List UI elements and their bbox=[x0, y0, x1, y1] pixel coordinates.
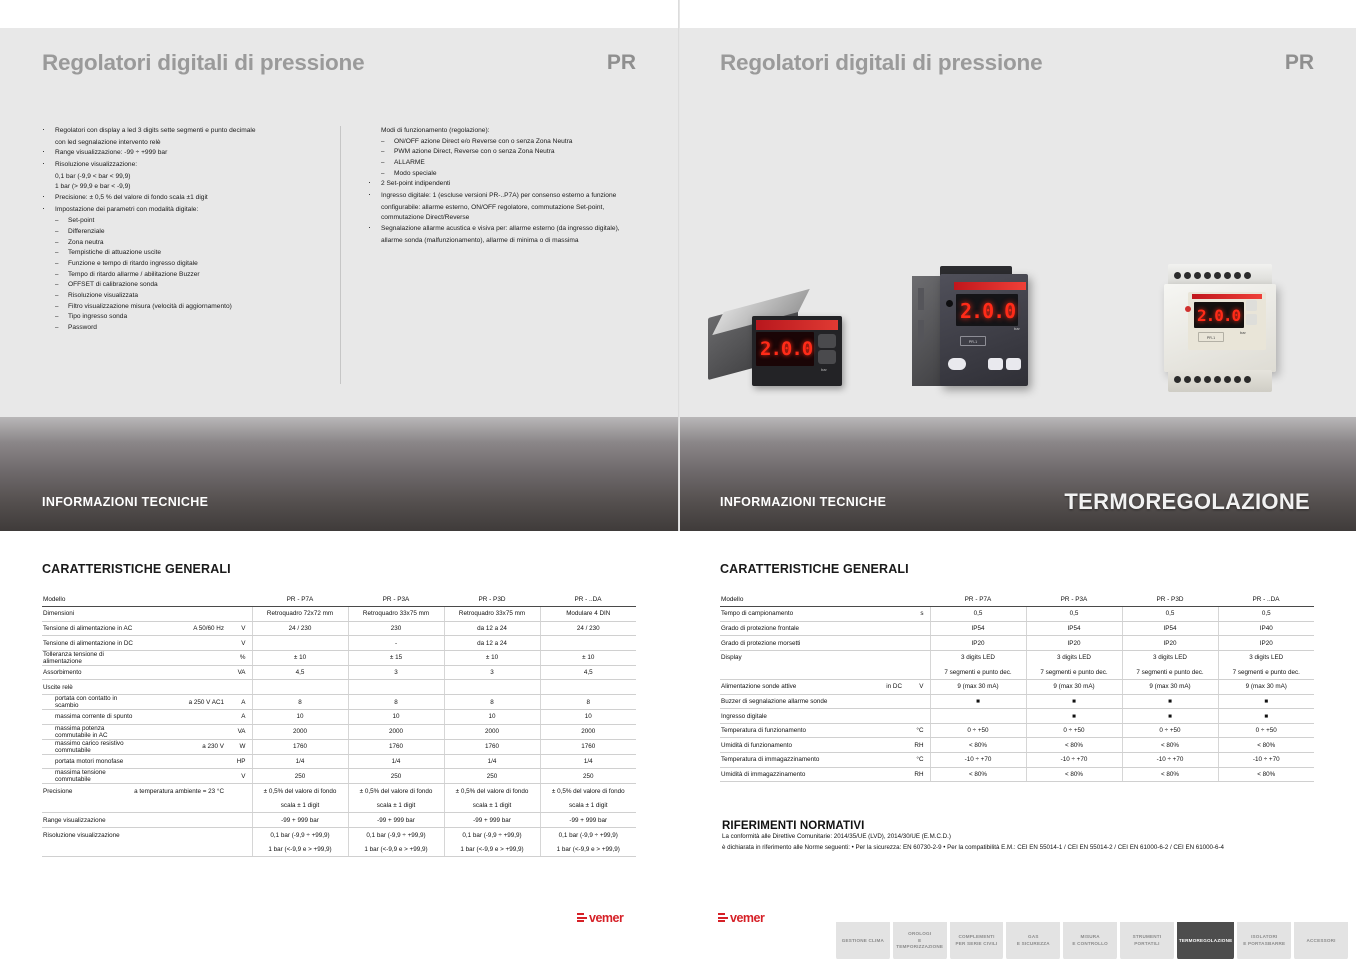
cell-value: -10 ÷ +70 bbox=[1026, 753, 1122, 768]
vemer-mark-icon bbox=[577, 913, 587, 922]
feature-item: ALLARME bbox=[368, 158, 658, 169]
table-row: Tensione di alimentazione in ACA 50/60 H… bbox=[42, 621, 636, 636]
cell-value: 1760 bbox=[348, 739, 444, 754]
cell-value: -99 + 999 bar bbox=[540, 813, 636, 828]
table-row: massimo carico resistivo commutabilea 23… bbox=[42, 739, 636, 754]
feature-heading: Modi di funzionamento (regolazione): bbox=[368, 126, 658, 137]
row-unit bbox=[908, 665, 930, 680]
cell-value: 9 (max 30 mA) bbox=[1026, 680, 1122, 695]
dash-bullet-icon bbox=[55, 323, 68, 334]
row-condition bbox=[134, 710, 230, 725]
cell-value: 2000 bbox=[444, 724, 540, 739]
product-panel-72x72: 2.0.0 bar PR-1 bbox=[910, 258, 1070, 418]
cell-value: < 80% bbox=[1218, 738, 1314, 753]
feature-label: Risoluzione visualizzazione: bbox=[55, 160, 320, 172]
feature-label: Regolatori con display a led 3 digits se… bbox=[55, 126, 320, 138]
cell-value: 1760 bbox=[444, 739, 540, 754]
cell-value: ± 15 bbox=[348, 650, 444, 665]
row-condition bbox=[876, 753, 908, 768]
row-condition bbox=[876, 665, 908, 680]
feature-item: Impostazione dei parametri con modalità … bbox=[42, 205, 320, 217]
cell-value: -99 + 999 bar bbox=[348, 813, 444, 828]
cell-value: < 80% bbox=[1218, 767, 1314, 782]
column-divider bbox=[340, 126, 341, 384]
nav-tab-label: COMPLEMENTIPER SERIE CIVILI bbox=[956, 934, 998, 947]
right-spec-table: ModelloPR - P7APR - P3APR - P3DPR - ..DA… bbox=[720, 592, 1314, 782]
nav-tab-2[interactable]: COMPLEMENTIPER SERIE CIVILI bbox=[950, 922, 1004, 959]
row-condition bbox=[134, 828, 230, 843]
feature-item: Regolatori con display a led 3 digits se… bbox=[42, 126, 320, 138]
cell-value: 0,1 bar (-9,9 ÷ +99,9) bbox=[444, 828, 540, 843]
vemer-logo: vemer bbox=[718, 911, 774, 925]
cell-value: IP40 bbox=[1218, 621, 1314, 636]
row-unit: RH bbox=[908, 767, 930, 782]
column-header-3: PR - ..DA bbox=[540, 592, 636, 607]
cell-value: Retroquadro 33x75 mm bbox=[348, 607, 444, 622]
cell-value: 7 segmenti e punto dec. bbox=[1026, 665, 1122, 680]
cell-value: 1/4 bbox=[252, 754, 348, 769]
left-page-header: Regolatori digitali di pressione PR bbox=[42, 50, 636, 90]
row-label bbox=[42, 798, 134, 813]
dash-bullet-icon bbox=[381, 147, 394, 158]
cell-value bbox=[444, 680, 540, 695]
row-condition bbox=[876, 607, 908, 622]
dash-bullet-icon bbox=[55, 227, 68, 238]
cell-value: 250 bbox=[252, 769, 348, 784]
feature-item: Tempistiche di attuazione uscite bbox=[42, 248, 320, 259]
cell-value: scala ± 1 digit bbox=[252, 798, 348, 813]
cell-value: Retroquadro 72x72 mm bbox=[252, 607, 348, 622]
table-row: portata con contatto in scambioa 250 V A… bbox=[42, 695, 636, 710]
vemer-mark-icon bbox=[718, 913, 728, 922]
cell-value: 0,1 bar (-9,9 ÷ +99,9) bbox=[348, 828, 444, 843]
product-panel-red-front: 2.0.0 bar bbox=[700, 288, 870, 418]
feature-item: Zona neutra bbox=[42, 238, 320, 249]
feature-label: Segnalazione allarme acustica e visiva p… bbox=[381, 224, 658, 236]
nav-tab-4[interactable]: MISURAE CONTROLLO bbox=[1063, 922, 1117, 959]
riferimenti-normativi: RIFERIMENTI NORMATIVI La conformità alle… bbox=[722, 820, 1322, 854]
dash-bullet-icon bbox=[55, 270, 68, 281]
row-unit bbox=[230, 842, 252, 857]
row-label: Umidità di funzionamento bbox=[720, 738, 876, 753]
row-condition: in DC bbox=[876, 680, 908, 695]
nav-tab-label: TERMOREGOLAZIONE bbox=[1179, 938, 1232, 945]
cell-value: 1/4 bbox=[348, 754, 444, 769]
row-unit bbox=[908, 709, 930, 724]
row-label: Tensione di alimentazione in AC bbox=[42, 621, 134, 636]
feature-item: Range visualizzazione: -99 ÷ +999 bar bbox=[42, 148, 320, 160]
row-condition bbox=[876, 738, 908, 753]
dash-bullet-icon bbox=[55, 280, 68, 291]
cell-value: 8 bbox=[540, 695, 636, 710]
row-unit: °C bbox=[908, 723, 930, 738]
row-condition bbox=[134, 813, 230, 828]
dot-bullet-icon bbox=[42, 205, 55, 217]
row-unit: V bbox=[230, 636, 252, 651]
model-label: Modello bbox=[42, 592, 134, 607]
cell-value: IP20 bbox=[1218, 636, 1314, 651]
model-label: Modello bbox=[720, 592, 876, 607]
feature-label: Password bbox=[68, 323, 320, 334]
table-row: Display3 digits LED3 digits LED3 digits … bbox=[720, 650, 1314, 665]
row-label: Risoluzione visualizzazione bbox=[42, 828, 134, 843]
feature-label: Zona neutra bbox=[68, 238, 320, 249]
row-label: massima potenza commutabile in AC bbox=[42, 724, 134, 739]
row-unit: VA bbox=[230, 665, 252, 680]
cell-value: -10 ÷ +70 bbox=[1122, 753, 1218, 768]
row-label: Display bbox=[720, 650, 876, 665]
cell-value: IP54 bbox=[1026, 621, 1122, 636]
nav-tab-0[interactable]: GESTIONE CLIMA bbox=[836, 922, 890, 959]
row-condition bbox=[876, 709, 908, 724]
cell-value: 10 bbox=[348, 710, 444, 725]
band-label: INFORMAZIONI TECNICHE bbox=[720, 495, 886, 509]
row-condition bbox=[876, 621, 908, 636]
row-unit: s bbox=[908, 607, 930, 622]
page-title: Regolatori digitali di pressione bbox=[42, 50, 636, 76]
column-header-3: PR - ..DA bbox=[1218, 592, 1314, 607]
row-condition: a 230 V bbox=[134, 739, 230, 754]
feature-item: Risoluzione visualizzazione: bbox=[42, 160, 320, 172]
page-title: Regolatori digitali di pressione bbox=[720, 50, 1314, 76]
cell-value: 8 bbox=[444, 695, 540, 710]
cell-value: 1 bar (<-9,9 e > +99,9) bbox=[444, 842, 540, 857]
row-unit: °C bbox=[908, 753, 930, 768]
nav-tab-1[interactable]: OROLOGIE TEMPORIZZAZIONE bbox=[893, 922, 947, 959]
cell-value: 0,5 bbox=[1218, 607, 1314, 622]
nav-tab-label: OROLOGIE TEMPORIZZAZIONE bbox=[895, 931, 945, 951]
cell-value: ± 10 bbox=[252, 650, 348, 665]
feature-label: Impostazione dei parametri con modalità … bbox=[55, 205, 320, 217]
nav-tab-label: ACCESSORI bbox=[1307, 938, 1336, 945]
feature-label: ALLARME bbox=[394, 158, 658, 169]
dash-bullet-icon bbox=[381, 169, 394, 180]
row-condition bbox=[134, 636, 230, 651]
cell-value: 3 digits LED bbox=[930, 650, 1026, 665]
cell-value: IP54 bbox=[1122, 621, 1218, 636]
cell-value: -10 ÷ +70 bbox=[1218, 753, 1314, 768]
row-label: Uscite relè bbox=[42, 680, 134, 695]
cell-value: ± 0,5% del valore di fondo bbox=[540, 784, 636, 799]
cell-value: < 80% bbox=[930, 767, 1026, 782]
table-row: Grado di protezione morsettiIP20IP20IP20… bbox=[720, 636, 1314, 651]
cell-value: 10 bbox=[444, 710, 540, 725]
feature-label: Modo speciale bbox=[394, 169, 658, 180]
feature-label: ON/OFF azione Direct e/o Reverse con o s… bbox=[394, 137, 658, 148]
feature-label: OFFSET di calibrazione sonda bbox=[68, 280, 320, 291]
band-label: INFORMAZIONI TECNICHE bbox=[42, 495, 208, 509]
row-label: Range visualizzazione bbox=[42, 813, 134, 828]
cell-value: 250 bbox=[540, 769, 636, 784]
table-row: Tolleranza tensione di alimentazione%± 1… bbox=[42, 650, 636, 665]
table-row: Temperatura di funzionamento°C0 ÷ +500 ÷… bbox=[720, 723, 1314, 738]
cell-value: 0,5 bbox=[1026, 607, 1122, 622]
cell-value: IP20 bbox=[930, 636, 1026, 651]
feature-item: Funzione e tempo di ritardo ingresso dig… bbox=[42, 259, 320, 270]
cell-value: 9 (max 30 mA) bbox=[1218, 680, 1314, 695]
row-label: massima tensione commutabile bbox=[42, 769, 134, 784]
row-condition: a 250 V AC1 bbox=[134, 695, 230, 710]
cell-value: 3 digits LED bbox=[1026, 650, 1122, 665]
vemer-logo: vemer bbox=[577, 911, 633, 925]
nav-tab-3[interactable]: GASE SICUREZZA bbox=[1006, 922, 1060, 959]
table-row: Tensione di alimentazione in DCV -da 12 … bbox=[42, 636, 636, 651]
dash-bullet-icon bbox=[381, 158, 394, 169]
cell-value: 1 bar (<-9,9 e > +99,9) bbox=[540, 842, 636, 857]
row-condition bbox=[876, 650, 908, 665]
cell-value bbox=[930, 709, 1026, 724]
row-unit bbox=[230, 798, 252, 813]
feature-item: Segnalazione allarme acustica e visiva p… bbox=[368, 224, 658, 236]
nav-tab-5[interactable]: STRUMENTIPORTATILI bbox=[1120, 922, 1174, 959]
feature-item: Tempo di ritardo allarme / abilitazione … bbox=[42, 270, 320, 281]
cell-value: -10 ÷ +70 bbox=[930, 753, 1026, 768]
cell-value: ■ bbox=[1026, 694, 1122, 709]
cell-value: 3 digits LED bbox=[1122, 650, 1218, 665]
cell-value: 250 bbox=[348, 769, 444, 784]
feature-item: 2 Set-point indipendenti bbox=[368, 179, 658, 191]
table-row: massima corrente di spuntoA10101010 bbox=[42, 710, 636, 725]
vemer-wordmark: vemer bbox=[589, 911, 623, 925]
feature-continuation: 0,1 bar (-9,9 < bar < 99,9) bbox=[42, 172, 320, 183]
table-row: massima potenza commutabile in ACVA20002… bbox=[42, 724, 636, 739]
cell-value: 230 bbox=[348, 621, 444, 636]
cell-value: ± 10 bbox=[444, 650, 540, 665]
product-din-module: 2.0.0 bar PR-1 bbox=[1150, 260, 1300, 420]
table-row: Ingresso digitale ■■■ bbox=[720, 709, 1314, 724]
row-condition bbox=[134, 650, 230, 665]
row-label: Alimentazione sonde attive bbox=[720, 680, 876, 695]
cell-value: 9 (max 30 mA) bbox=[930, 680, 1026, 695]
right-section-band: INFORMAZIONI TECNICHE TERMOREGOLAZIONE bbox=[678, 417, 1356, 531]
feature-item: Set-point bbox=[42, 216, 320, 227]
table-row: Grado di protezione frontaleIP54IP54IP54… bbox=[720, 621, 1314, 636]
cell-value: < 80% bbox=[1026, 767, 1122, 782]
feature-item: Tipo ingresso sonda bbox=[42, 312, 320, 323]
column-header-1: PR - P3A bbox=[1026, 592, 1122, 607]
feature-label: Tempistiche di attuazione uscite bbox=[68, 248, 320, 259]
row-label: Ingresso digitale bbox=[720, 709, 876, 724]
row-label: Temperatura di funzionamento bbox=[720, 723, 876, 738]
cell-value: 1/4 bbox=[444, 754, 540, 769]
feature-label: Range visualizzazione: -99 ÷ +999 bar bbox=[55, 148, 320, 160]
cell-value: scala ± 1 digit bbox=[444, 798, 540, 813]
dash-bullet-icon bbox=[381, 137, 394, 148]
feature-label: Precisione: ± 0,5 % del valore di fondo … bbox=[55, 193, 320, 205]
cell-value: 2000 bbox=[348, 724, 444, 739]
page-code: PR bbox=[1285, 51, 1314, 75]
feature-item: Password bbox=[42, 323, 320, 334]
nav-tab-label: ISOLATORIE PORTASBARRE bbox=[1243, 934, 1285, 947]
page-right: Regolatori digitali di pressione PR 2.0.… bbox=[678, 0, 1356, 959]
nav-tab-label: MISURAE CONTROLLO bbox=[1072, 934, 1108, 947]
left-section-band: INFORMAZIONI TECNICHE bbox=[0, 417, 678, 531]
cell-value: 1760 bbox=[252, 739, 348, 754]
category-nav-tabs[interactable]: GESTIONE CLIMAOROLOGIE TEMPORIZZAZIONECO… bbox=[836, 922, 1348, 959]
row-label: portata con contatto in scambio bbox=[42, 695, 134, 710]
cell-value: 1760 bbox=[540, 739, 636, 754]
column-header-2: PR - P3D bbox=[1122, 592, 1218, 607]
dash-bullet-icon bbox=[55, 238, 68, 249]
left-spec-table: ModelloPR - P7APR - P3APR - P3DPR - ..DA… bbox=[42, 592, 636, 857]
feature-item: Differenziale bbox=[42, 227, 320, 238]
table-row: Precisionea temperatura ambiente = 23 °C… bbox=[42, 784, 636, 799]
dash-bullet-icon bbox=[55, 291, 68, 302]
cell-value bbox=[540, 636, 636, 651]
cell-value: IP20 bbox=[1122, 636, 1218, 651]
cell-value: - bbox=[348, 636, 444, 651]
row-unit: HP bbox=[230, 754, 252, 769]
row-condition bbox=[134, 842, 230, 857]
table-row: Umidità di immagazzinamentoRH< 80%< 80%<… bbox=[720, 767, 1314, 782]
cell-value: ± 10 bbox=[540, 650, 636, 665]
cell-value: ± 0,5% del valore di fondo bbox=[444, 784, 540, 799]
cell-value: 3 bbox=[444, 665, 540, 680]
row-label: Grado di protezione frontale bbox=[720, 621, 876, 636]
cell-value: 2000 bbox=[540, 724, 636, 739]
cell-value: 4,5 bbox=[252, 665, 348, 680]
cell-value: 3 bbox=[348, 665, 444, 680]
cell-value: IP20 bbox=[1026, 636, 1122, 651]
cell-value: 1 bar (<-9,9 e > +99,9) bbox=[348, 842, 444, 857]
cell-value: < 80% bbox=[930, 738, 1026, 753]
catalog-spread: Regolatori digitali di pressione PR Rego… bbox=[0, 0, 1356, 959]
cell-value: Modulare 4 DIN bbox=[540, 607, 636, 622]
row-unit bbox=[908, 636, 930, 651]
feature-item: Filtro visualizzazione misura (velocità … bbox=[42, 302, 320, 313]
dash-bullet-icon bbox=[55, 248, 68, 259]
row-unit bbox=[908, 694, 930, 709]
row-label: Grado di protezione morsetti bbox=[720, 636, 876, 651]
row-unit bbox=[908, 621, 930, 636]
cell-value: ■ bbox=[1026, 709, 1122, 724]
feature-continuation: 1 bar (> 99,9 e bar < -9,9) bbox=[42, 182, 320, 193]
row-label: Tensione di alimentazione in DC bbox=[42, 636, 134, 651]
cell-value: < 80% bbox=[1026, 738, 1122, 753]
normativi-line-2: è dichiarata in riferimento alle Norme s… bbox=[722, 843, 1322, 854]
row-unit: RH bbox=[908, 738, 930, 753]
row-label: massimo carico resistivo commutabile bbox=[42, 739, 134, 754]
dash-bullet-icon bbox=[55, 259, 68, 270]
dot-bullet-icon bbox=[42, 160, 55, 172]
table-header-row: ModelloPR - P7APR - P3APR - P3DPR - ..DA bbox=[720, 592, 1314, 607]
cell-value: Retroquadro 33x75 mm bbox=[444, 607, 540, 622]
cell-value bbox=[252, 680, 348, 695]
table-row: portata motori monofaseHP1/41/41/41/4 bbox=[42, 754, 636, 769]
row-unit: A bbox=[230, 695, 252, 710]
nav-tab-label: STRUMENTIPORTATILI bbox=[1133, 934, 1162, 947]
dot-bullet-icon bbox=[368, 224, 381, 236]
feature-label: PWM azione Direct, Reverse con o senza Z… bbox=[394, 147, 658, 158]
row-unit bbox=[230, 607, 252, 622]
cell-value: 0,1 bar (-9,9 ÷ +99,9) bbox=[540, 828, 636, 843]
cell-value bbox=[252, 636, 348, 651]
cell-value: 24 / 230 bbox=[540, 621, 636, 636]
cell-value: scala ± 1 digit bbox=[348, 798, 444, 813]
feature-continuation: con led segnalazione intervento relè bbox=[42, 138, 320, 149]
table-row: Buzzer di segnalazione allarme sonde■■■■ bbox=[720, 694, 1314, 709]
feature-label: Risoluzione visualizzata bbox=[68, 291, 320, 302]
row-label: Precisione bbox=[42, 784, 134, 799]
row-unit: V bbox=[908, 680, 930, 695]
page-left: Regolatori digitali di pressione PR Rego… bbox=[0, 0, 678, 959]
vemer-wordmark: vemer bbox=[730, 911, 764, 925]
page-code: PR bbox=[607, 51, 636, 75]
cell-value: 24 / 230 bbox=[252, 621, 348, 636]
cell-value: -99 + 999 bar bbox=[444, 813, 540, 828]
row-label: Tempo di campionamento bbox=[720, 607, 876, 622]
row-label bbox=[42, 842, 134, 857]
right-page-header: Regolatori digitali di pressione PR bbox=[720, 50, 1314, 90]
table-row: Umidità di funzionamentoRH< 80%< 80%< 80… bbox=[720, 738, 1314, 753]
feature-continuation: allarme sonda (malfunzionamento), allarm… bbox=[368, 236, 658, 247]
table-row: Temperatura di immagazzinamento°C-10 ÷ +… bbox=[720, 753, 1314, 768]
feature-item: PWM azione Direct, Reverse con o senza Z… bbox=[368, 147, 658, 158]
row-unit bbox=[230, 784, 252, 799]
column-header-1: PR - P3A bbox=[348, 592, 444, 607]
cell-value: 0,5 bbox=[1122, 607, 1218, 622]
row-label: Tolleranza tensione di alimentazione bbox=[42, 650, 134, 665]
cell-value: 4,5 bbox=[540, 665, 636, 680]
feature-continuation: configurabile: allarme esterno, ON/OFF r… bbox=[368, 203, 658, 214]
dot-bullet-icon bbox=[42, 126, 55, 138]
normativi-title: RIFERIMENTI NORMATIVI bbox=[722, 820, 1322, 832]
cell-value: 0 ÷ +50 bbox=[930, 723, 1026, 738]
feature-label: 2 Set-point indipendenti bbox=[381, 179, 658, 191]
cell-value: ■ bbox=[930, 694, 1026, 709]
row-condition bbox=[134, 754, 230, 769]
left-section-title: CARATTERISTICHE GENERALI bbox=[42, 562, 231, 576]
row-unit bbox=[908, 650, 930, 665]
nav-tab-label: GESTIONE CLIMA bbox=[842, 938, 884, 945]
table-row: scala ± 1 digitscala ± 1 digitscala ± 1 … bbox=[42, 798, 636, 813]
nav-tab-7[interactable]: ISOLATORIE PORTASBARRE bbox=[1237, 922, 1291, 959]
row-unit: VA bbox=[230, 724, 252, 739]
nav-tab-8[interactable]: ACCESSORI bbox=[1294, 922, 1348, 959]
table-row: Uscite relè bbox=[42, 680, 636, 695]
cell-value: ± 0,5% del valore di fondo bbox=[252, 784, 348, 799]
nav-tab-6[interactable]: TERMOREGOLAZIONE bbox=[1177, 922, 1234, 959]
cell-value: 1 bar (<-9,9 e > +99,9) bbox=[252, 842, 348, 857]
cell-value: 8 bbox=[348, 695, 444, 710]
cell-value: ■ bbox=[1218, 709, 1314, 724]
cell-value: 0 ÷ +50 bbox=[1026, 723, 1122, 738]
cell-value bbox=[348, 680, 444, 695]
cell-value: da 12 a 24 bbox=[444, 621, 540, 636]
cell-value: 7 segmenti e punto dec. bbox=[930, 665, 1026, 680]
row-condition bbox=[134, 607, 230, 622]
cell-value: 0 ÷ +50 bbox=[1122, 723, 1218, 738]
cell-value: 10 bbox=[252, 710, 348, 725]
table-row: AssorbimentoVA4,5334,5 bbox=[42, 665, 636, 680]
table-row: Tempo di campionamentos0,50,50,50,5 bbox=[720, 607, 1314, 622]
feature-label: Tipo ingresso sonda bbox=[68, 312, 320, 323]
product-photos: 2.0.0 bar 2.0.0 bar PR-1 bbox=[678, 240, 1356, 420]
features-list-right: Modi di funzionamento (regolazione):ON/O… bbox=[368, 126, 658, 246]
table-row: 7 segmenti e punto dec.7 segmenti e punt… bbox=[720, 665, 1314, 680]
right-section-title: CARATTERISTICHE GENERALI bbox=[720, 562, 909, 576]
feature-label: Filtro visualizzazione misura (velocità … bbox=[68, 302, 320, 313]
row-unit bbox=[230, 680, 252, 695]
feature-item: OFFSET di calibrazione sonda bbox=[42, 280, 320, 291]
feature-item: Ingresso digitale: 1 (escluse versioni P… bbox=[368, 191, 658, 203]
cell-value: 1/4 bbox=[540, 754, 636, 769]
row-unit: W bbox=[230, 739, 252, 754]
cell-value: 7 segmenti e punto dec. bbox=[1122, 665, 1218, 680]
row-unit: V bbox=[230, 621, 252, 636]
feature-label: Ingresso digitale: 1 (escluse versioni P… bbox=[381, 191, 658, 203]
cell-value: 2000 bbox=[252, 724, 348, 739]
